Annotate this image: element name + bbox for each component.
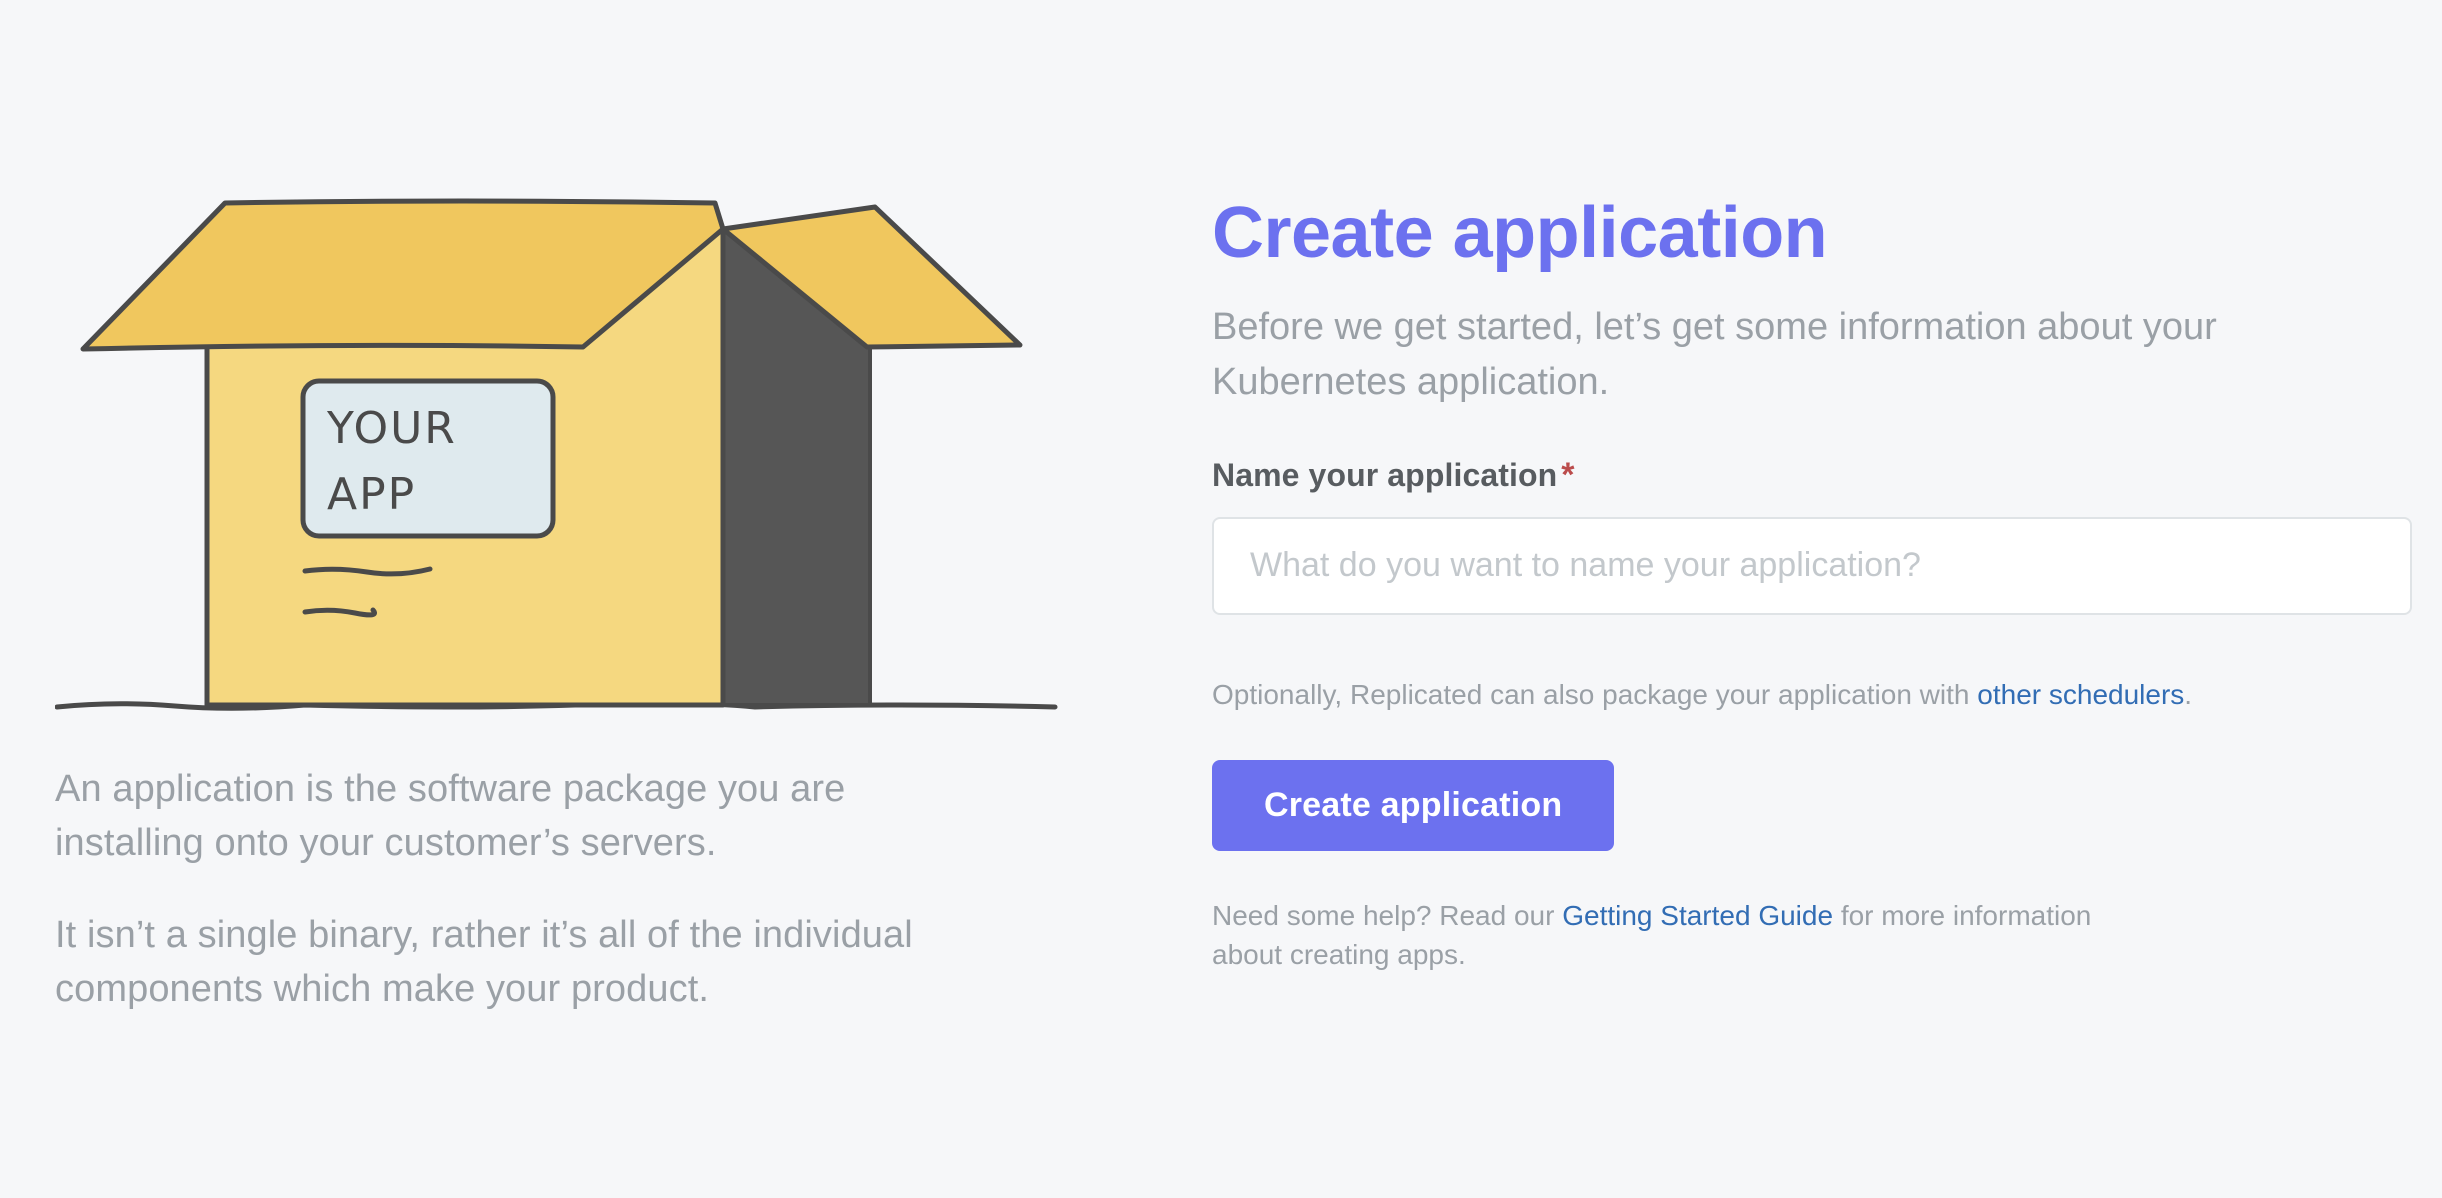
other-schedulers-link[interactable]: other schedulers <box>1977 679 2184 710</box>
application-name-input[interactable] <box>1212 517 2412 615</box>
right-column: Create application Before we get started… <box>1212 196 2412 1002</box>
create-application-page: YOUR APP An application is the software … <box>0 0 2442 1198</box>
name-field-label-text: Name your application <box>1212 457 1557 493</box>
name-field-label: Name your application* <box>1212 456 2412 495</box>
help-note-prefix: Need some help? Read our <box>1212 900 1562 931</box>
required-asterisk-icon: * <box>1561 456 1574 494</box>
box-illustration: YOUR APP <box>55 185 1075 735</box>
left-column: YOUR APP An application is the software … <box>55 185 1075 1017</box>
getting-started-guide-link[interactable]: Getting Started Guide <box>1562 900 1833 931</box>
optional-note-prefix: Optionally, Replicated can also package … <box>1212 679 1977 710</box>
svg-text:YOUR: YOUR <box>326 403 457 454</box>
left-description: An application is the software package y… <box>55 763 955 1017</box>
left-paragraph-1: An application is the software package y… <box>55 763 955 871</box>
help-note: Need some help? Read our Getting Started… <box>1212 897 2112 974</box>
page-subtitle: Before we get started, let’s get some in… <box>1212 300 2372 410</box>
create-application-button[interactable]: Create application <box>1212 760 1614 851</box>
left-paragraph-2: It isn’t a single binary, rather it’s al… <box>55 909 955 1017</box>
page-title: Create application <box>1212 196 2412 272</box>
optional-note-suffix: . <box>2184 679 2192 710</box>
svg-text:APP: APP <box>327 469 416 520</box>
optional-schedulers-note: Optionally, Replicated can also package … <box>1212 675 2412 714</box>
